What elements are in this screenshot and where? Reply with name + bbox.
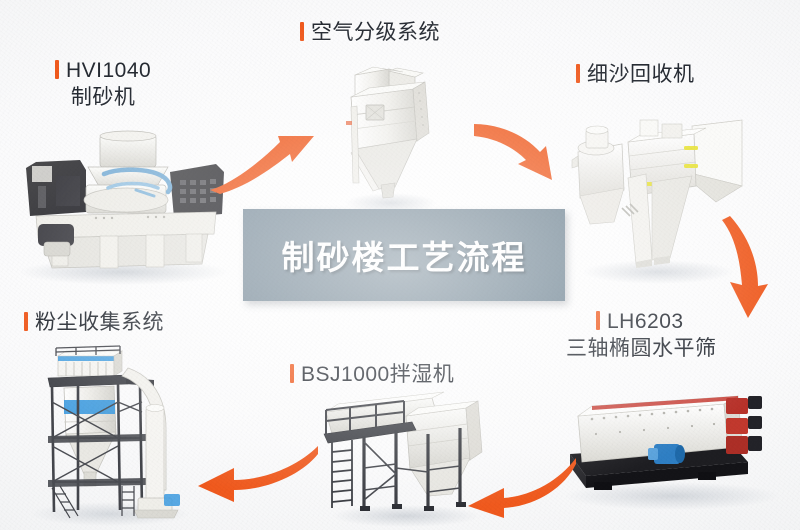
label-fine-sand-recycler: 细沙回收机 [576,62,695,88]
vsi-sand-maker-icon [8,130,240,285]
process-flow-infographic: HVI1040 制砂机 空气分级系统 细沙回收机 LH6203 三轴椭圆水平筛 … [0,0,800,530]
label-marker-bar [290,364,294,383]
label-marker-bar [596,311,600,330]
dust-collector-icon [22,342,200,528]
label-dust-collector: 粉尘收集系统 [24,310,164,336]
vibrating-screen-icon [548,392,794,518]
fine-sand-recycler-icon [566,112,752,290]
air-classifier-icon [333,63,455,215]
page-title: 制砂楼工艺流程 [282,231,527,279]
label-air-classifier: 空气分级系统 [300,20,440,46]
arrow-mixer-to-dust-collector [190,428,320,513]
label-sand-maker: HVI1040 制砂机 [55,58,151,110]
label-marker-bar [576,64,580,83]
wet-mixer-icon [320,390,495,530]
label-marker-bar [300,22,304,41]
label-vibrating-screen: LH6203 三轴椭圆水平筛 [596,309,717,361]
center-title-block: 制砂楼工艺流程 [243,209,565,301]
label-marker-bar [24,312,28,331]
label-marker-bar [55,60,59,79]
label-wet-mixer: BSJ1000拌湿机 [290,362,454,388]
